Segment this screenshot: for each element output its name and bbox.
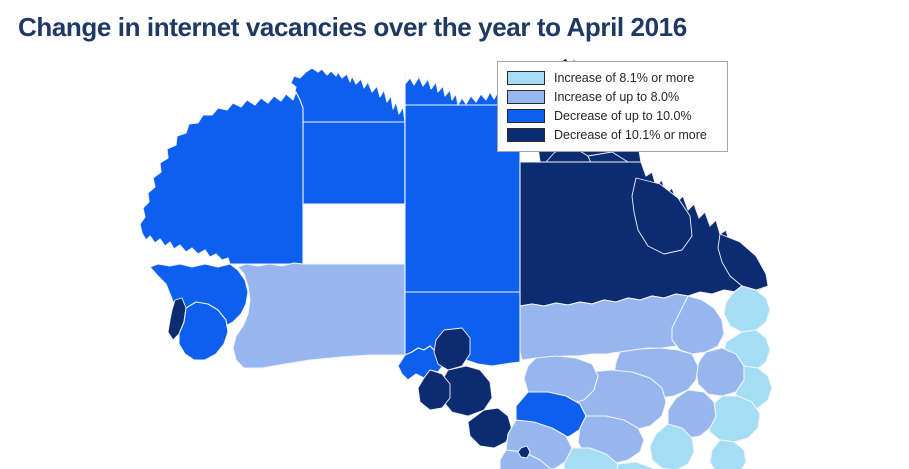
legend-label-increase-low: Increase of up to 8.0% <box>554 90 679 104</box>
legend-item-increase-high[interactable]: Increase of 8.1% or more <box>507 69 719 87</box>
legend-swatch-decrease-low <box>507 109 545 123</box>
map-legend: Increase of 8.1% or more Increase of up … <box>497 61 728 152</box>
legend-swatch-increase-high <box>507 71 545 85</box>
region-hunter-valley[interactable] <box>696 348 744 396</box>
region-darwin[interactable] <box>405 77 458 105</box>
region-illawarra[interactable] <box>710 440 746 469</box>
region-wa-west-coast[interactable] <box>140 92 303 264</box>
legend-swatch-increase-low <box>507 90 545 104</box>
region-coffs-harbour-grafton[interactable] <box>724 286 770 332</box>
legend-item-decrease-low[interactable]: Decrease of up to 10.0% <box>507 107 719 125</box>
map-svg <box>0 52 909 469</box>
legend-label-decrease-high: Decrease of 10.1% or more <box>554 128 707 142</box>
region-wa-coast-north[interactable] <box>303 122 405 204</box>
infographic-page: Change in internet vacancies over the ye… <box>0 0 909 469</box>
australia-choropleth-map <box>0 52 909 469</box>
legend-item-increase-low[interactable]: Increase of up to 8.0% <box>507 88 719 106</box>
region-wa-outback-south[interactable] <box>233 263 405 368</box>
region-wa-outback-north[interactable] <box>291 68 405 122</box>
legend-label-decrease-low: Decrease of up to 10.0% <box>554 109 692 123</box>
legend-swatch-decrease-high <box>507 128 545 142</box>
legend-item-decrease-high[interactable]: Decrease of 10.1% or more <box>507 126 719 144</box>
legend-label-increase-high: Increase of 8.1% or more <box>554 71 694 85</box>
page-title: Change in internet vacancies over the ye… <box>18 10 898 44</box>
